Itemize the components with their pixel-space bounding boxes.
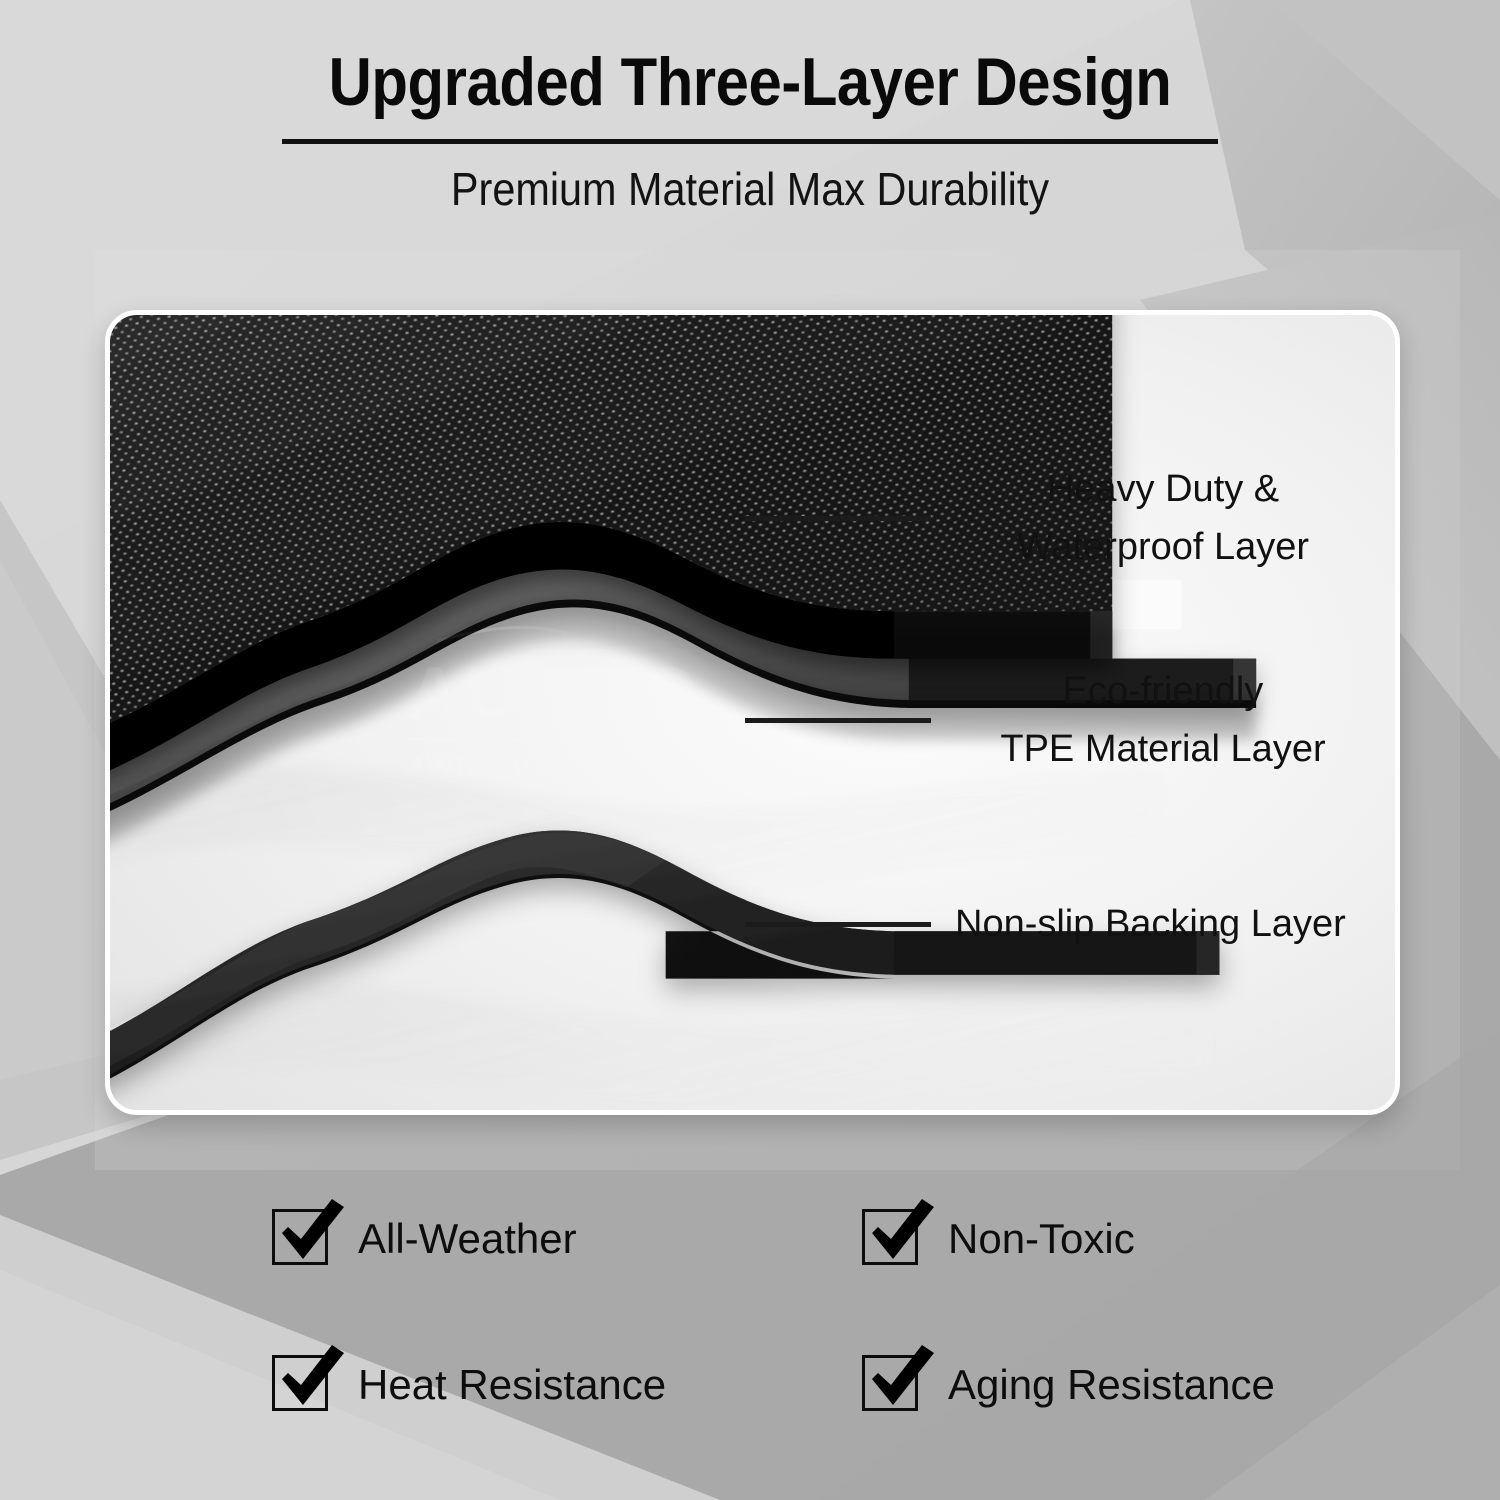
title-divider [282, 139, 1218, 144]
checkbox-aging-resistance [862, 1355, 922, 1415]
watermark: AUSGO 4WD&ACCESSORIES [408, 652, 736, 784]
feature-non-toxic: Non-Toxic [862, 1208, 1352, 1270]
leader-line-bottom-layer [745, 922, 931, 927]
feature-all-weather: All-Weather [272, 1208, 862, 1270]
callout-middle-layer: Eco-friendly TPE Material Layer [745, 662, 1385, 778]
callout-label-middle-layer: Eco-friendly TPE Material Layer [953, 662, 1373, 778]
feature-label: Non-Toxic [948, 1215, 1135, 1263]
infographic-canvas: Upgraded Three-Layer Design Premium Mate… [0, 0, 1500, 1500]
callout-bottom-layer: Non-slip Backing Layer [745, 895, 1405, 953]
feature-heat-resistance: Heat Resistance [272, 1354, 862, 1416]
page-title: Upgraded Three-Layer Design [90, 46, 1410, 119]
check-icon [864, 1343, 938, 1417]
feature-label: All-Weather [358, 1215, 577, 1263]
callout-label-bottom-layer: Non-slip Backing Layer [955, 895, 1395, 953]
leader-line-top-layer [745, 516, 931, 521]
header: Upgraded Three-Layer Design Premium Mate… [0, 46, 1500, 216]
page-subtitle: Premium Material Max Durability [75, 162, 1425, 216]
feature-label: Heat Resistance [358, 1361, 666, 1409]
checkbox-all-weather [272, 1209, 332, 1269]
feature-checklist: All-Weather Non-Toxic Heat Resistance [272, 1208, 1352, 1416]
feature-aging-resistance: Aging Resistance [862, 1354, 1352, 1416]
watermark-primary: AUSGO [408, 652, 702, 734]
watermark-secondary: 4WD&ACCESSORIES [408, 751, 736, 784]
leader-line-middle-layer [745, 718, 931, 723]
check-icon [274, 1343, 348, 1417]
callout-top-layer: Heavy Duty & Waterproof Layer [745, 460, 1385, 576]
check-icon [864, 1197, 938, 1271]
callout-label-top-layer: Heavy Duty & Waterproof Layer [953, 460, 1373, 576]
checkbox-heat-resistance [272, 1355, 332, 1415]
feature-label: Aging Resistance [948, 1361, 1275, 1409]
checkbox-non-toxic [862, 1209, 922, 1269]
check-icon [274, 1197, 348, 1271]
